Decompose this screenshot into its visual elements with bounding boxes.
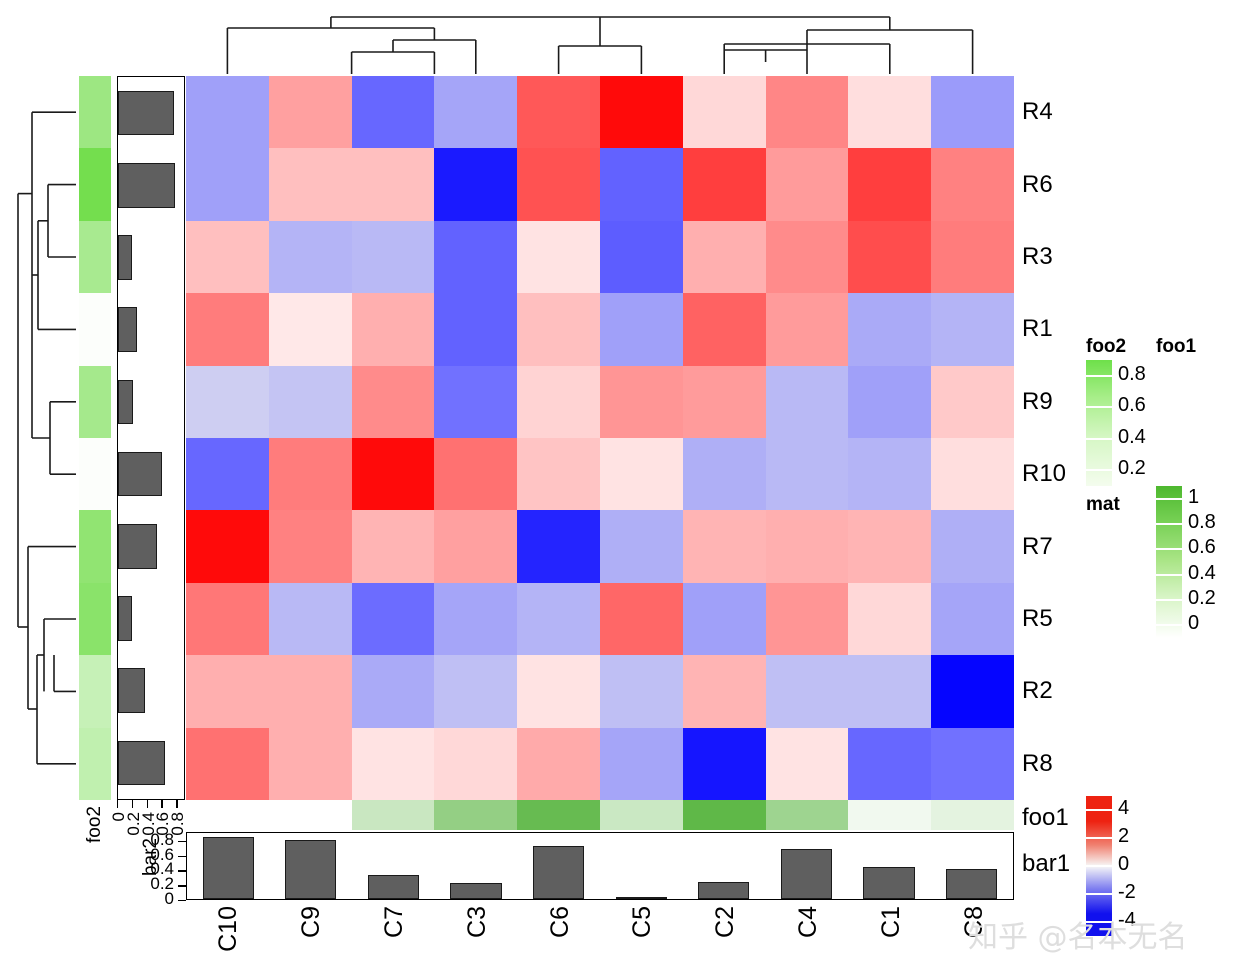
legend-tick-label: 4 <box>1118 797 1129 820</box>
column-label: C2 <box>711 906 740 938</box>
foo2-annotation-cell <box>79 728 111 800</box>
legend-tick-label: 0.2 <box>1118 457 1146 480</box>
bar2-row <box>118 366 184 438</box>
bar1-column <box>848 833 931 899</box>
heatmap-cell <box>766 221 849 293</box>
heatmap-cell <box>766 583 849 655</box>
heatmap-cell <box>269 510 352 582</box>
heatmap-cell <box>352 438 435 510</box>
heatmap-figure: R4R6R3R1R9R10R7R5R2R8 C10C9C7C3C6C5C2C4C… <box>0 0 1240 976</box>
heatmap-cell <box>848 583 931 655</box>
row-label: R9 <box>1022 390 1053 414</box>
heatmap-cell <box>766 438 849 510</box>
heatmap-cell <box>931 728 1014 800</box>
legend-tick-label: 0.4 <box>1118 426 1146 449</box>
bar2-tick <box>161 800 162 808</box>
foo2-annotation-cell <box>79 438 111 510</box>
heatmap-cell <box>683 221 766 293</box>
heatmap-cell <box>517 148 600 220</box>
heatmap-cell <box>434 438 517 510</box>
foo2-annotation-cell <box>79 221 111 293</box>
legend-title-foo1: foo1 <box>1156 336 1196 358</box>
heatmap-cell <box>683 148 766 220</box>
heatmap-cell <box>931 76 1014 148</box>
heatmap-cell <box>269 76 352 148</box>
legend-tick <box>1156 574 1182 576</box>
foo1-annotation-cell <box>186 800 269 830</box>
bar2-row <box>118 582 184 654</box>
heatmap-cell <box>600 510 683 582</box>
heatmap-cell <box>848 221 931 293</box>
heatmap-cell <box>766 76 849 148</box>
heatmap-cell <box>186 510 269 582</box>
heatmap-cell <box>683 728 766 800</box>
legend-tick <box>1156 624 1182 626</box>
legend-title-mat: mat <box>1086 494 1120 516</box>
bar1-bar <box>533 846 584 899</box>
bar1-bar <box>368 875 419 899</box>
heatmap-cell <box>931 583 1014 655</box>
heatmap-cell <box>683 655 766 727</box>
bar2-row <box>118 77 184 149</box>
bar2-bar <box>118 668 145 713</box>
legend-tick <box>1156 498 1182 500</box>
heatmap-cell <box>517 438 600 510</box>
legend-title-foo2: foo2 <box>1086 336 1126 358</box>
legend-tick <box>1086 469 1112 471</box>
heatmap-cell <box>269 728 352 800</box>
legend-tick <box>1086 438 1112 440</box>
heatmap-cell <box>931 293 1014 365</box>
row-label: R2 <box>1022 679 1053 703</box>
heatmap-cell <box>931 366 1014 438</box>
legend-tick-label: 0.6 <box>1118 394 1146 417</box>
legend-tick-label: 2 <box>1118 825 1129 848</box>
foo2-annotation-cell <box>79 510 111 582</box>
row-label: R7 <box>1022 535 1053 559</box>
foo2-annotation-cell <box>79 583 111 655</box>
heatmap-cell <box>434 655 517 727</box>
heatmap-cell <box>434 148 517 220</box>
bar1-column <box>683 833 766 899</box>
column-label: C6 <box>546 906 575 938</box>
heatmap-matrix <box>186 76 1014 800</box>
heatmap-cell <box>766 293 849 365</box>
legend-tick-label: 0.8 <box>1118 363 1146 386</box>
heatmap-cell <box>517 366 600 438</box>
heatmap-cell <box>269 438 352 510</box>
row-label: R5 <box>1022 607 1053 631</box>
heatmap-cell <box>352 293 435 365</box>
bar1-column <box>600 833 683 899</box>
heatmap-cell <box>766 510 849 582</box>
heatmap-cell <box>600 366 683 438</box>
bar1-tick <box>178 885 186 886</box>
column-label: C7 <box>380 906 409 938</box>
heatmap-cell <box>683 293 766 365</box>
heatmap-cell <box>352 583 435 655</box>
bar1-track-label: bar1 <box>1022 852 1070 876</box>
foo2-annotation-cell <box>79 293 111 365</box>
bar2-bar <box>118 524 157 569</box>
bar2-row <box>118 438 184 510</box>
legend-tick <box>1086 809 1112 811</box>
bar1-bar <box>203 837 254 899</box>
foo2-annotation-cell <box>79 76 111 148</box>
heatmap-cell <box>600 728 683 800</box>
foo1-annotation-cell <box>600 800 683 830</box>
heatmap-cell <box>600 438 683 510</box>
heatmap-cell <box>269 221 352 293</box>
heatmap-cell <box>683 76 766 148</box>
column-dendrogram <box>186 4 1014 74</box>
heatmap-cell <box>848 438 931 510</box>
watermark: 知乎 @名本无名 <box>968 912 1188 956</box>
heatmap-cell <box>186 438 269 510</box>
foo1-track-label: foo1 <box>1022 806 1069 830</box>
legend-tick <box>1156 599 1182 601</box>
legend-tick-label: -2 <box>1118 881 1136 904</box>
heatmap-cell <box>600 583 683 655</box>
bar2-row <box>118 221 184 293</box>
bar1-bar <box>781 849 832 899</box>
legend-tick-label: 0.8 <box>1188 511 1216 534</box>
heatmap-cell <box>683 438 766 510</box>
legend-bar-foo2: 0.80.60.40.2 <box>1086 360 1112 486</box>
heatmap-cell <box>517 293 600 365</box>
heatmap-cell <box>848 76 931 148</box>
row-barplot-bar2 <box>117 76 185 800</box>
bar2-bar <box>118 91 174 136</box>
heatmap-cell <box>269 293 352 365</box>
legend-tick <box>1086 375 1112 377</box>
heatmap-cell <box>600 76 683 148</box>
foo1-annotation-cell <box>766 800 849 830</box>
column-barplot-bar1 <box>186 832 1014 900</box>
foo1-annotation-cell <box>931 800 1014 830</box>
legend-tick-label: 1 <box>1188 486 1199 509</box>
heatmap-cell <box>600 655 683 727</box>
row-dendrogram <box>4 76 76 800</box>
legend-tick <box>1086 406 1112 408</box>
heatmap-cell <box>683 510 766 582</box>
legend-tick-label: 0.6 <box>1188 536 1216 559</box>
bar1-column <box>270 833 353 899</box>
foo2-track-label: foo2 <box>84 806 106 843</box>
bar2-row <box>118 655 184 727</box>
heatmap-cell <box>517 76 600 148</box>
heatmap-cell <box>600 221 683 293</box>
heatmap-cell <box>434 293 517 365</box>
heatmap-cell <box>269 366 352 438</box>
heatmap-cell <box>848 148 931 220</box>
row-annotation-foo2 <box>79 76 111 800</box>
heatmap-cell <box>186 221 269 293</box>
row-label: R10 <box>1022 462 1066 486</box>
heatmap-cell <box>848 728 931 800</box>
heatmap-cell <box>848 655 931 727</box>
heatmap-cell <box>600 148 683 220</box>
heatmap-cell <box>352 655 435 727</box>
bar2-row <box>118 294 184 366</box>
heatmap-cell <box>434 76 517 148</box>
bar1-bar <box>863 867 914 899</box>
bar1-column <box>517 833 600 899</box>
foo2-annotation-cell <box>79 655 111 727</box>
bar1-tick <box>178 900 186 901</box>
heatmap-cell <box>186 583 269 655</box>
bar2-tick <box>147 800 148 808</box>
heatmap-cell <box>352 76 435 148</box>
heatmap-cell <box>517 510 600 582</box>
bar1-column <box>930 833 1013 899</box>
bar1-bar <box>450 883 501 900</box>
heatmap-cell <box>517 583 600 655</box>
heatmap-cell <box>352 221 435 293</box>
legend-tick-label: 0.2 <box>1188 587 1216 610</box>
heatmap-cell <box>186 293 269 365</box>
heatmap-cell <box>931 438 1014 510</box>
row-label: R1 <box>1022 317 1053 341</box>
bar2-bar <box>118 163 175 208</box>
heatmap-cell <box>186 366 269 438</box>
bar2-bar <box>118 235 132 280</box>
heatmap-cell <box>269 583 352 655</box>
heatmap-cell <box>352 728 435 800</box>
legend-tick <box>1086 893 1112 895</box>
heatmap-cell <box>683 366 766 438</box>
bar1-tick <box>178 856 186 857</box>
row-label: R6 <box>1022 173 1053 197</box>
bar2-tick <box>176 800 177 808</box>
column-annotation-foo1 <box>186 800 1014 830</box>
heatmap-cell <box>352 510 435 582</box>
heatmap-cell <box>434 728 517 800</box>
bar2-bar <box>118 596 132 641</box>
column-label: C1 <box>877 906 906 938</box>
foo2-annotation-cell <box>79 366 111 438</box>
heatmap-cell <box>186 728 269 800</box>
legend-bar-foo1: 10.80.60.40.20 <box>1156 486 1182 638</box>
row-label: R8 <box>1022 752 1053 776</box>
bar2-tick <box>132 800 133 808</box>
heatmap-cell <box>434 221 517 293</box>
bar1-column <box>435 833 518 899</box>
foo1-annotation-cell <box>517 800 600 830</box>
legend-tick <box>1156 523 1182 525</box>
heatmap-cell <box>766 728 849 800</box>
row-label: R3 <box>1022 245 1053 269</box>
column-label: C5 <box>628 906 657 938</box>
bar2-row <box>118 510 184 582</box>
column-label: C10 <box>214 906 243 952</box>
heatmap-cell <box>931 221 1014 293</box>
bar1-bar <box>946 869 997 899</box>
bar2-row <box>118 149 184 221</box>
column-label: C3 <box>463 906 492 938</box>
row-label: R4 <box>1022 100 1053 124</box>
legend-tick-label: 0.4 <box>1188 562 1216 585</box>
bar2-bar <box>118 741 165 786</box>
bar1-column <box>765 833 848 899</box>
heatmap-cell <box>766 148 849 220</box>
heatmap-cell <box>848 366 931 438</box>
foo1-annotation-cell <box>352 800 435 830</box>
legend-tick-label: 0 <box>1188 612 1199 635</box>
heatmap-cell <box>517 221 600 293</box>
bar1-axis-ticks <box>176 832 186 900</box>
heatmap-cell <box>931 655 1014 727</box>
foo2-annotation-cell <box>79 148 111 220</box>
foo1-annotation-cell <box>848 800 931 830</box>
bar1-tick <box>178 841 186 842</box>
column-label: C4 <box>794 906 823 938</box>
legend-group: foo2 0.80.60.40.2 foo1 10.80.60.40.20 ma… <box>1086 336 1236 656</box>
heatmap-cell <box>600 293 683 365</box>
bar2-bar <box>118 452 162 497</box>
heatmap-cell <box>186 655 269 727</box>
heatmap-cell <box>269 655 352 727</box>
bar1-bar <box>698 882 749 899</box>
heatmap-cell <box>517 728 600 800</box>
legend-tick <box>1086 865 1112 867</box>
legend-tick <box>1156 548 1182 550</box>
legend-tick <box>1086 837 1112 839</box>
bar1-tick-label: 0.8 <box>122 830 174 850</box>
bar2-axis-ticks <box>117 800 185 810</box>
heatmap-cell <box>766 366 849 438</box>
bar1-column <box>187 833 270 899</box>
bar2-tick <box>117 800 118 808</box>
legend-tick-label: 0 <box>1118 853 1129 876</box>
heatmap-cell <box>186 76 269 148</box>
heatmap-cell <box>683 583 766 655</box>
heatmap-cell <box>352 366 435 438</box>
heatmap-cell <box>434 583 517 655</box>
bar2-bar <box>118 380 133 425</box>
bar2-row <box>118 727 184 799</box>
foo1-annotation-cell <box>269 800 352 830</box>
heatmap-cell <box>766 655 849 727</box>
bar1-tick <box>178 870 186 871</box>
column-label: C9 <box>297 906 326 938</box>
heatmap-cell <box>517 655 600 727</box>
heatmap-cell <box>269 148 352 220</box>
bar1-bar <box>616 897 667 899</box>
heatmap-cell <box>848 510 931 582</box>
heatmap-cell <box>931 510 1014 582</box>
foo1-annotation-cell <box>683 800 766 830</box>
heatmap-cell <box>434 366 517 438</box>
bar1-bar <box>285 840 336 899</box>
heatmap-cell <box>931 148 1014 220</box>
heatmap-cell <box>848 293 931 365</box>
heatmap-cell <box>434 510 517 582</box>
bar2-bar <box>118 307 137 352</box>
heatmap-cell <box>352 148 435 220</box>
bar1-column <box>352 833 435 899</box>
heatmap-cell <box>186 148 269 220</box>
foo1-annotation-cell <box>434 800 517 830</box>
